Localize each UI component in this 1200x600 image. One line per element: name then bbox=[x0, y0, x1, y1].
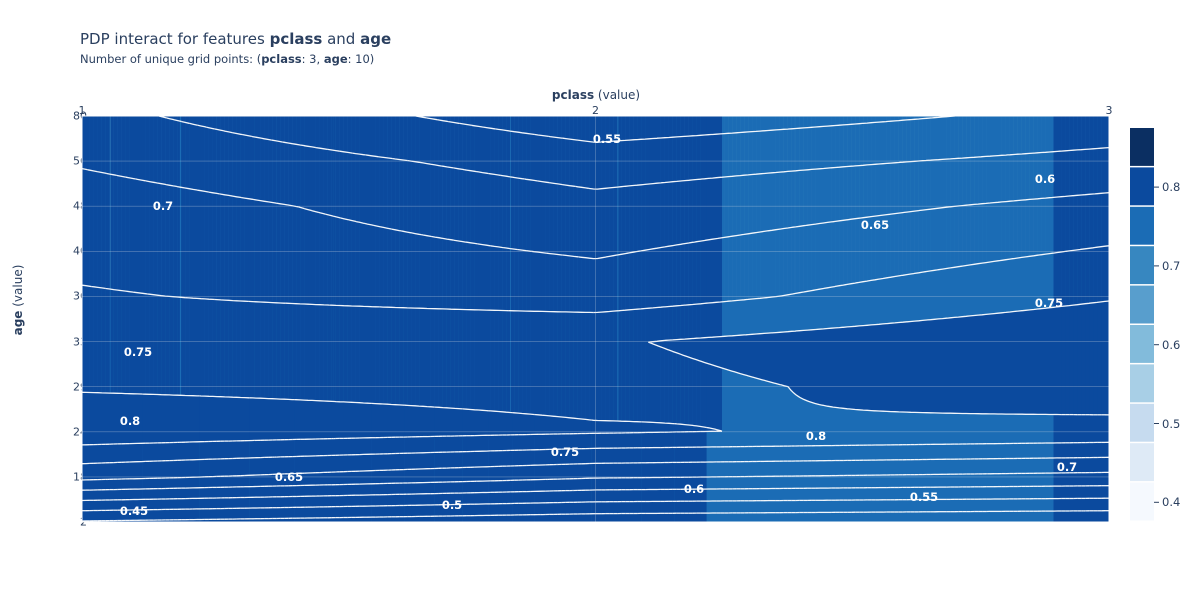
contour-value-label: 0.6 bbox=[1035, 172, 1055, 186]
contour-band bbox=[193, 116, 197, 442]
contour-band bbox=[332, 116, 334, 439]
contour-band bbox=[625, 116, 629, 433]
contour-band bbox=[657, 116, 661, 432]
contour-band bbox=[300, 116, 304, 439]
contour-value-label: 0.75 bbox=[1035, 296, 1063, 310]
contour-band bbox=[249, 116, 253, 441]
contour-band bbox=[320, 116, 324, 439]
contour-band bbox=[391, 116, 395, 437]
contour-band bbox=[669, 116, 673, 432]
contour-band bbox=[328, 116, 332, 439]
contour-band bbox=[701, 116, 705, 432]
contour-band bbox=[685, 116, 689, 432]
contour-value-label: 0.65 bbox=[275, 470, 303, 484]
contour-value-label: 0.55 bbox=[593, 132, 621, 146]
contour-band bbox=[294, 400, 334, 522]
contour-band bbox=[157, 116, 161, 443]
contour-band bbox=[165, 116, 169, 443]
contour-band bbox=[498, 116, 502, 435]
contour-band bbox=[512, 413, 534, 522]
contour-band bbox=[435, 116, 439, 436]
contour-plot[interactable]: 0.550.70.60.650.750.750.80.80.750.70.650… bbox=[0, 0, 1200, 600]
contour-band bbox=[260, 116, 264, 440]
contour-band bbox=[463, 116, 467, 436]
contour-band bbox=[241, 116, 245, 441]
contour-band bbox=[82, 392, 143, 522]
contour-band bbox=[335, 402, 372, 523]
contour-value-label: 0.75 bbox=[124, 345, 152, 359]
contour-band bbox=[308, 116, 312, 439]
contour-band bbox=[1069, 116, 1073, 415]
contour-band bbox=[479, 116, 483, 436]
contour-band bbox=[582, 116, 586, 434]
colorbar-band bbox=[1130, 364, 1154, 402]
contour-band bbox=[490, 116, 494, 435]
contour-band bbox=[284, 116, 288, 440]
colorbar-band bbox=[1130, 483, 1154, 521]
contour-band bbox=[609, 116, 613, 433]
contour-band bbox=[483, 116, 487, 435]
contour-value-label: 0.8 bbox=[120, 414, 140, 428]
contour-band bbox=[487, 116, 491, 435]
contour-band bbox=[613, 116, 617, 433]
contour-band bbox=[605, 116, 609, 433]
contour-band bbox=[143, 394, 199, 522]
colorbar-band bbox=[1130, 128, 1154, 166]
contour-band bbox=[221, 116, 225, 441]
contour-value-label: 0.6 bbox=[684, 482, 704, 496]
contour-value-label: 0.5 bbox=[442, 498, 462, 512]
contour-band bbox=[566, 116, 570, 434]
contour-band bbox=[642, 422, 675, 522]
colorbar-band bbox=[1130, 404, 1154, 442]
contour-band bbox=[514, 116, 518, 435]
contour-band bbox=[471, 116, 475, 436]
contour-band bbox=[570, 116, 574, 434]
contour-band bbox=[280, 116, 284, 440]
contour-band bbox=[375, 116, 379, 438]
contour-band bbox=[340, 116, 344, 438]
contour-band bbox=[233, 116, 237, 441]
pdp-interact-figure: PDP interact for features pclass and age… bbox=[0, 0, 1200, 600]
contour-band bbox=[189, 116, 193, 442]
contour-band bbox=[379, 116, 383, 438]
contour-band bbox=[653, 116, 657, 432]
contour-band bbox=[675, 424, 694, 522]
contour-band bbox=[689, 116, 693, 432]
colorbar[interactable] bbox=[1130, 128, 1159, 521]
contour-band bbox=[693, 116, 697, 432]
contour-band bbox=[419, 116, 423, 437]
contour-band bbox=[455, 116, 459, 436]
contour-value-label: 0.7 bbox=[153, 199, 173, 213]
contour-band bbox=[249, 398, 294, 522]
contour-band bbox=[1058, 116, 1062, 415]
contour-band bbox=[288, 116, 292, 440]
contour-value-label: 0.75 bbox=[551, 445, 579, 459]
contour-value-label: 0.55 bbox=[910, 490, 938, 504]
contour-band bbox=[407, 116, 411, 437]
contour-band bbox=[661, 116, 665, 432]
contour-band bbox=[637, 116, 641, 433]
contour-band bbox=[356, 116, 360, 438]
contour-band bbox=[1054, 116, 1058, 415]
contour-band bbox=[665, 116, 669, 432]
contour-band bbox=[316, 116, 320, 439]
contour-band bbox=[371, 403, 404, 522]
contour-band bbox=[415, 116, 419, 437]
contour-band bbox=[598, 116, 602, 433]
contour-band bbox=[677, 116, 681, 432]
contour-band bbox=[254, 116, 256, 440]
contour-band bbox=[586, 116, 590, 434]
contour-band bbox=[253, 116, 255, 441]
contour-band bbox=[618, 116, 621, 433]
colorbar-band bbox=[1130, 167, 1154, 205]
contour-band bbox=[641, 116, 645, 433]
contour-band bbox=[161, 116, 165, 443]
contour-band bbox=[590, 116, 594, 433]
contour-band bbox=[383, 116, 387, 438]
contour-band bbox=[1085, 116, 1089, 415]
contour-band bbox=[707, 116, 716, 429]
contour-band bbox=[181, 116, 185, 442]
contour-band bbox=[209, 116, 213, 442]
colorbar-band bbox=[1130, 246, 1154, 284]
contour-band bbox=[463, 409, 489, 522]
contour-band bbox=[312, 116, 316, 439]
contour-band bbox=[324, 116, 328, 439]
contour-band bbox=[494, 116, 498, 435]
contour-band bbox=[629, 116, 633, 433]
contour-band bbox=[511, 116, 514, 435]
contour-band bbox=[694, 426, 707, 522]
contour-band bbox=[451, 116, 455, 436]
contour-band bbox=[697, 116, 701, 432]
contour-band bbox=[443, 116, 447, 436]
contour-value-label: 0.7 bbox=[1057, 460, 1077, 474]
contour-band bbox=[334, 116, 336, 439]
contour-band bbox=[558, 116, 562, 434]
contour-band bbox=[360, 116, 364, 438]
contour-band bbox=[502, 116, 506, 435]
contour-band bbox=[372, 116, 376, 438]
contour-band bbox=[1061, 116, 1065, 415]
colorbar-band bbox=[1130, 325, 1154, 363]
contour-band bbox=[716, 116, 723, 431]
contour-band bbox=[344, 116, 348, 438]
contour-band bbox=[562, 116, 566, 434]
contour-band bbox=[387, 116, 391, 437]
contour-band bbox=[364, 116, 368, 438]
contour-band bbox=[506, 116, 510, 435]
contour-band bbox=[237, 116, 241, 441]
contour-band bbox=[185, 116, 189, 442]
colorbar-band bbox=[1130, 443, 1154, 481]
contour-band bbox=[348, 116, 352, 438]
contour-band bbox=[403, 116, 407, 437]
contour-band bbox=[264, 116, 268, 440]
contour-band bbox=[229, 116, 233, 441]
contour-band bbox=[467, 116, 471, 436]
contour-band bbox=[601, 116, 605, 433]
contour-band bbox=[213, 116, 217, 441]
contour-band bbox=[649, 116, 653, 432]
contour-band bbox=[681, 116, 685, 432]
contour-band bbox=[336, 116, 340, 439]
contour-band bbox=[296, 116, 300, 439]
contour-band bbox=[574, 116, 578, 434]
contour-band bbox=[411, 116, 415, 437]
colorbar-band bbox=[1130, 286, 1154, 324]
contour-band bbox=[395, 116, 399, 437]
contour-band bbox=[201, 116, 205, 442]
contour-band bbox=[276, 116, 280, 440]
contour-band bbox=[459, 116, 463, 436]
contour-value-label: 0.65 bbox=[861, 218, 889, 232]
contour-band bbox=[475, 116, 479, 436]
contour-band bbox=[633, 116, 637, 433]
contour-band bbox=[447, 116, 451, 436]
contour-band bbox=[245, 116, 249, 441]
contour-value-label: 0.8 bbox=[806, 429, 826, 443]
contour-band bbox=[439, 116, 443, 436]
contour-band bbox=[292, 116, 296, 440]
contour-band bbox=[1077, 116, 1081, 415]
contour-band bbox=[197, 116, 201, 442]
contour-band bbox=[399, 116, 403, 437]
contour-band bbox=[1073, 116, 1077, 415]
contour-band bbox=[304, 116, 308, 439]
contour-band bbox=[555, 416, 574, 522]
contour-band bbox=[578, 116, 582, 434]
contour-value-label: 0.45 bbox=[120, 504, 148, 518]
colorbar-band bbox=[1130, 207, 1154, 245]
contour-band bbox=[621, 116, 625, 433]
contour-band bbox=[169, 116, 173, 443]
contour-band bbox=[352, 116, 356, 438]
contour-band bbox=[591, 420, 642, 522]
contour-band bbox=[1065, 116, 1069, 415]
contour-band bbox=[268, 116, 272, 440]
contour-band bbox=[368, 116, 372, 438]
contour-band bbox=[177, 116, 180, 442]
contour-band bbox=[1081, 116, 1085, 415]
contour-band bbox=[645, 116, 649, 433]
contour-band bbox=[257, 116, 261, 440]
contour-band bbox=[554, 116, 558, 434]
contour-band bbox=[217, 116, 221, 441]
contour-band bbox=[173, 116, 177, 443]
contour-band bbox=[205, 116, 209, 442]
contour-band bbox=[673, 116, 677, 432]
contour-band bbox=[534, 415, 554, 523]
contour-band bbox=[272, 116, 276, 440]
contour-band bbox=[225, 116, 229, 441]
